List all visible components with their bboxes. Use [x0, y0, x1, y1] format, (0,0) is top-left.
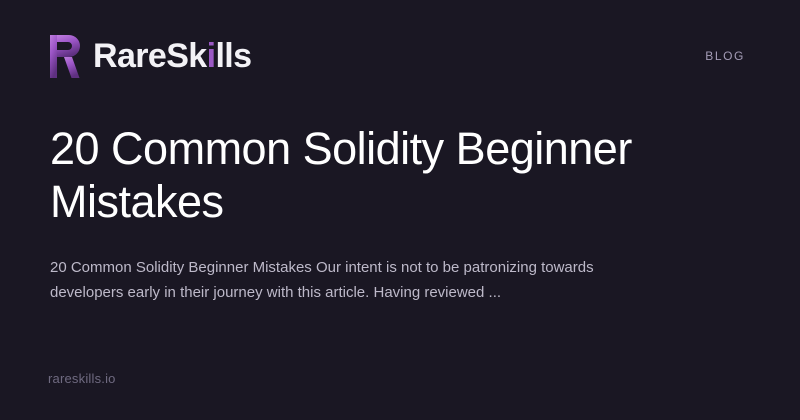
wordmark-part-2: lls	[215, 37, 251, 75]
card-content: 20 Common Solidity Beginner Mistakes 20 …	[50, 122, 690, 305]
site-header: RareSkills BLOG	[0, 0, 800, 112]
article-headline: 20 Common Solidity Beginner Mistakes	[50, 122, 675, 228]
social-share-card: RareSkills BLOG 20 Common Solidity Begin…	[0, 0, 800, 420]
rareskills-r-logo-icon	[50, 35, 80, 78]
site-url-label: rareskills.io	[48, 371, 116, 386]
wordmark-part-1: RareSk	[93, 37, 207, 75]
article-excerpt: 20 Common Solidity Beginner Mistakes Our…	[50, 255, 650, 305]
brand-wordmark: RareSkills	[93, 39, 251, 73]
card-footer: rareskills.io	[48, 370, 116, 388]
brand-logo[interactable]: RareSkills	[50, 35, 251, 78]
nav-link-blog[interactable]: BLOG	[705, 49, 745, 63]
